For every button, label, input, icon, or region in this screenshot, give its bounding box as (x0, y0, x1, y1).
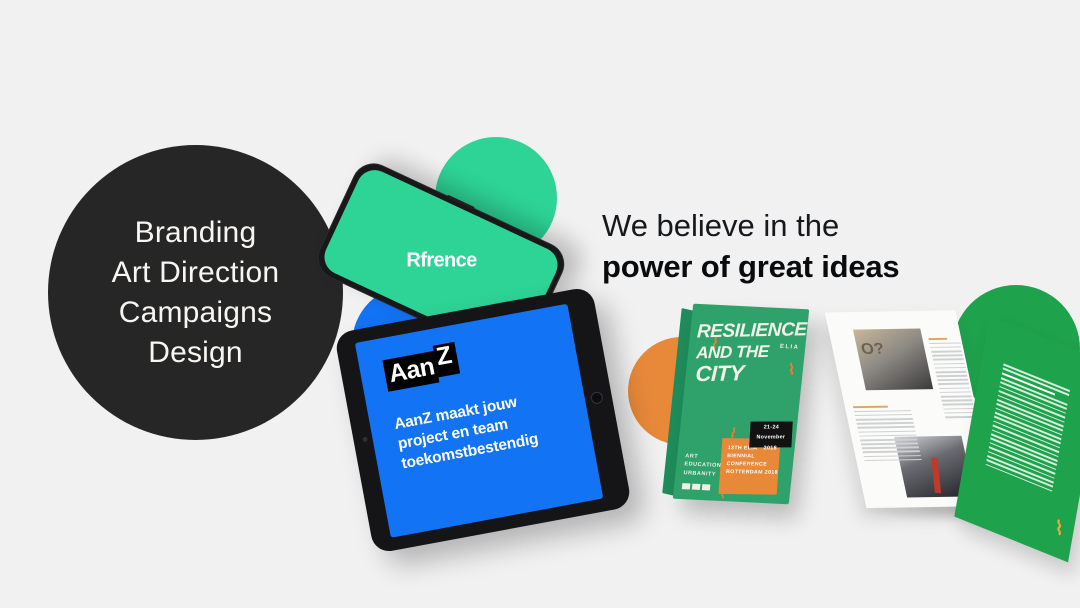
book-footer-marks (682, 483, 711, 490)
zigzag-icon: ⌇ (1055, 517, 1064, 541)
book-cover: ⌇ ⌇ ⌇ ⌇ Resilience and the City ELIA Art… (673, 304, 810, 505)
service-item-art-direction: Art Direction (112, 253, 280, 293)
magazine-photo-1: O? (853, 328, 933, 390)
elia-logo: ELIA (780, 344, 800, 351)
poster-canvas: Branding Art Direction Campaigns Design … (0, 0, 1080, 608)
tablet-mockup: Aan Z AanZ maakt jouw project en team to… (334, 286, 632, 554)
magazine-mockup: O? ⌇ (848, 300, 1080, 532)
photo-tie-detail (931, 458, 941, 494)
services-circle: Branding Art Direction Campaigns Design (48, 145, 343, 440)
magazine-right-text-column (985, 363, 1070, 494)
service-item-campaigns: Campaigns (119, 293, 273, 333)
headline-line-1: We believe in the (602, 205, 1022, 246)
aanz-logo: Aan Z (382, 347, 460, 392)
magazine-text-column-2 (853, 405, 922, 464)
tablet-screen: Aan Z AanZ maakt jouw project en team to… (355, 304, 603, 538)
tablet-body: Aan Z AanZ maakt jouw project en team to… (334, 286, 632, 554)
magazine-right-page: ⌇ (954, 316, 1080, 563)
photo-wall-text: O? (860, 341, 886, 359)
service-item-design: Design (148, 333, 243, 373)
aanz-logo-part-1: Aan (382, 351, 439, 392)
aanz-logo-part-2: Z (432, 342, 459, 377)
book-title-line-1: Resilience (697, 319, 800, 342)
tablet-tagline: AanZ maakt jouw project en team toekomst… (393, 383, 579, 474)
magazine-text-column-1 (928, 338, 976, 421)
book-date-line-1: 21-24 (750, 421, 793, 431)
headline-line-2: power of great ideas (602, 246, 1022, 287)
book-date-badge: 21-24 November 2018 (749, 421, 793, 447)
rfrence-logo: Rfrence (406, 250, 476, 273)
book-date-line-2: November (749, 432, 792, 442)
service-item-branding: Branding (135, 213, 257, 253)
book-date-line-3: 2018 (749, 442, 792, 452)
book-mockup: ⌇ ⌇ ⌇ ⌇ Resilience and the City ELIA Art… (673, 304, 810, 505)
book-title: Resilience and the City (695, 319, 800, 384)
tablet-camera-icon (362, 436, 368, 442)
book-tag-urbanity: Urbanity (683, 469, 721, 479)
tablet-home-button (590, 391, 604, 405)
headline: We believe in the power of great ideas (602, 205, 1022, 287)
book-title-line-3: City (695, 361, 798, 384)
book-tags: Art Education Urbanity (683, 452, 722, 479)
